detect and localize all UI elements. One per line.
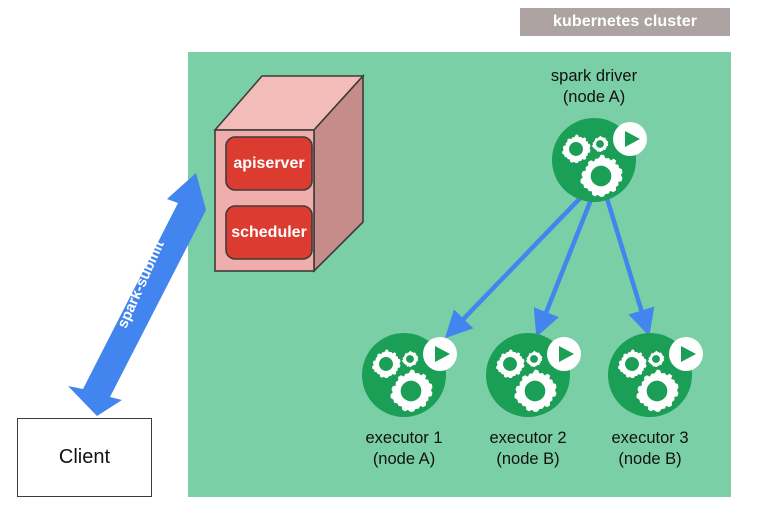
spark-driver-name: spark driver xyxy=(514,66,674,87)
scheduler-box xyxy=(226,206,312,259)
executor-1-name: executor 1 xyxy=(339,428,469,449)
executor-3-name: executor 3 xyxy=(585,428,715,449)
kubernetes-cluster-badge-label: kubernetes cluster xyxy=(553,13,697,31)
executor-3-label: executor 3 (node B) xyxy=(585,428,715,470)
executor-2-label: executor 2 (node B) xyxy=(463,428,593,470)
client-box-label: Client xyxy=(59,446,110,469)
executor-3-node: (node B) xyxy=(585,449,715,470)
apiserver-box xyxy=(226,137,312,190)
executor-1-node: (node A) xyxy=(339,449,469,470)
spark-driver-label: spark driver (node A) xyxy=(514,66,674,108)
client-box: Client xyxy=(17,418,152,497)
executor-1-label: executor 1 (node A) xyxy=(339,428,469,470)
spark-driver-node: (node A) xyxy=(514,87,674,108)
executor-2-node: (node B) xyxy=(463,449,593,470)
executor-2-play-icon xyxy=(547,337,581,371)
diagram-canvas: kubernetes cluster Client spark-submit a… xyxy=(0,0,761,516)
driver-play-icon xyxy=(613,122,647,156)
kubernetes-cluster-badge: kubernetes cluster xyxy=(520,8,730,36)
executor-1-play-icon xyxy=(423,337,457,371)
executor-3-play-icon xyxy=(669,337,703,371)
executor-2-name: executor 2 xyxy=(463,428,593,449)
